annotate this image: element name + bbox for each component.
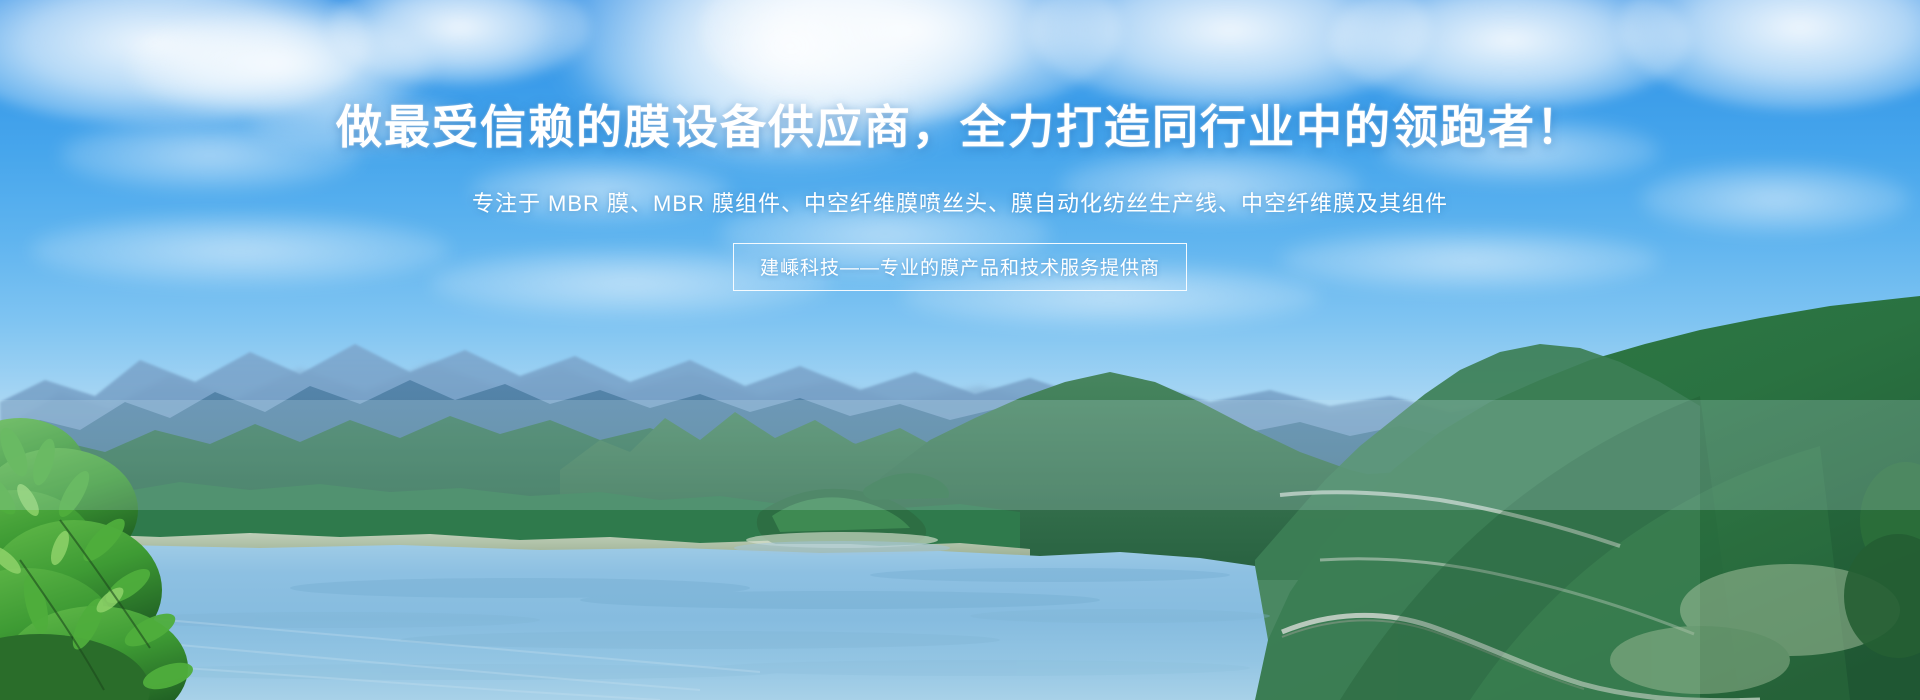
banner-tagline-wrapper: 建嵊科技——专业的膜产品和技术服务提供商 [0,243,1920,291]
hero-banner: 做最受信赖的膜设备供应商，全力打造同行业中的领跑者！ 专注于 MBR 膜、MBR… [0,0,1920,700]
banner-subheadline: 专注于 MBR 膜、MBR 膜组件、中空纤维膜喷丝头、膜自动化纺丝生产线、中空纤… [0,186,1920,218]
banner-headline: 做最受信赖的膜设备供应商，全力打造同行业中的领跑者！ [0,101,1920,154]
banner-tagline-box: 建嵊科技——专业的膜产品和技术服务提供商 [733,243,1187,291]
